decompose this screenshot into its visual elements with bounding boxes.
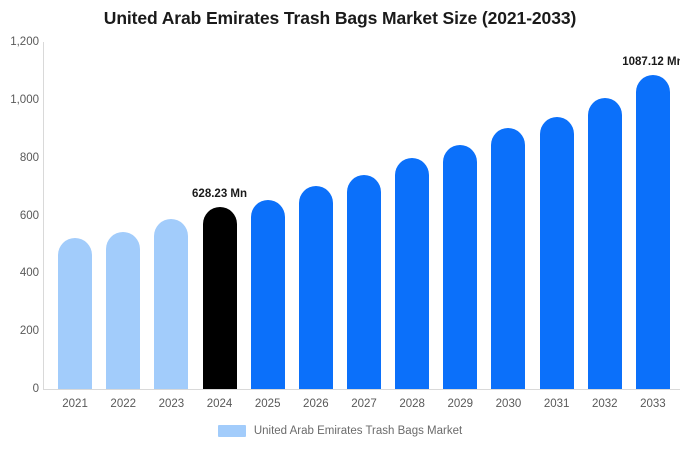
plot-area	[44, 42, 680, 389]
legend-label: United Arab Emirates Trash Bags Market	[254, 425, 462, 437]
bar-group[interactable]	[347, 42, 381, 389]
legend-swatch-icon	[218, 425, 246, 437]
bar-group[interactable]	[203, 42, 237, 389]
bar-group[interactable]	[58, 42, 92, 389]
bar[interactable]	[395, 158, 429, 389]
bar-group[interactable]	[251, 42, 285, 389]
y-axis-tick-label: 400	[0, 267, 39, 279]
bar[interactable]	[443, 145, 477, 389]
bar-value-label: 628.23 Mn	[192, 188, 247, 200]
bar[interactable]	[636, 75, 670, 389]
bar-group[interactable]	[299, 42, 333, 389]
bar[interactable]	[299, 186, 333, 389]
bar-group[interactable]	[491, 42, 525, 389]
x-axis-tick-label: 2033	[623, 398, 680, 410]
chart-legend[interactable]: United Arab Emirates Trash Bags Market	[0, 425, 680, 437]
bar-group[interactable]	[540, 42, 574, 389]
bar-chart: United Arab Emirates Trash Bags Market S…	[0, 0, 680, 450]
y-axis-tick-label: 200	[0, 325, 39, 337]
bar[interactable]	[347, 175, 381, 389]
y-axis-tick-label: 1,200	[0, 36, 39, 48]
bar[interactable]	[251, 200, 285, 389]
bar[interactable]	[154, 219, 188, 389]
bar-group[interactable]	[588, 42, 622, 389]
bar[interactable]	[540, 117, 574, 389]
bar[interactable]	[58, 238, 92, 389]
y-axis-tick-label: 800	[0, 152, 39, 164]
bar[interactable]	[106, 232, 140, 389]
y-axis-tick-label: 0	[0, 383, 39, 395]
y-axis-tick-label: 600	[0, 210, 39, 222]
bar-group[interactable]	[395, 42, 429, 389]
bar[interactable]	[588, 98, 622, 389]
y-axis-tick-labels: 02004006008001,0001,200	[0, 0, 39, 450]
x-axis-line	[43, 389, 680, 390]
bar-value-label: 1087.12 Mn	[622, 56, 680, 68]
y-axis-tick-label: 1,000	[0, 94, 39, 106]
bar-group[interactable]	[636, 42, 670, 389]
bar[interactable]	[203, 207, 237, 389]
bar-group[interactable]	[443, 42, 477, 389]
chart-title: United Arab Emirates Trash Bags Market S…	[0, 8, 680, 29]
bar-group[interactable]	[106, 42, 140, 389]
bar[interactable]	[491, 128, 525, 389]
bar-group[interactable]	[154, 42, 188, 389]
